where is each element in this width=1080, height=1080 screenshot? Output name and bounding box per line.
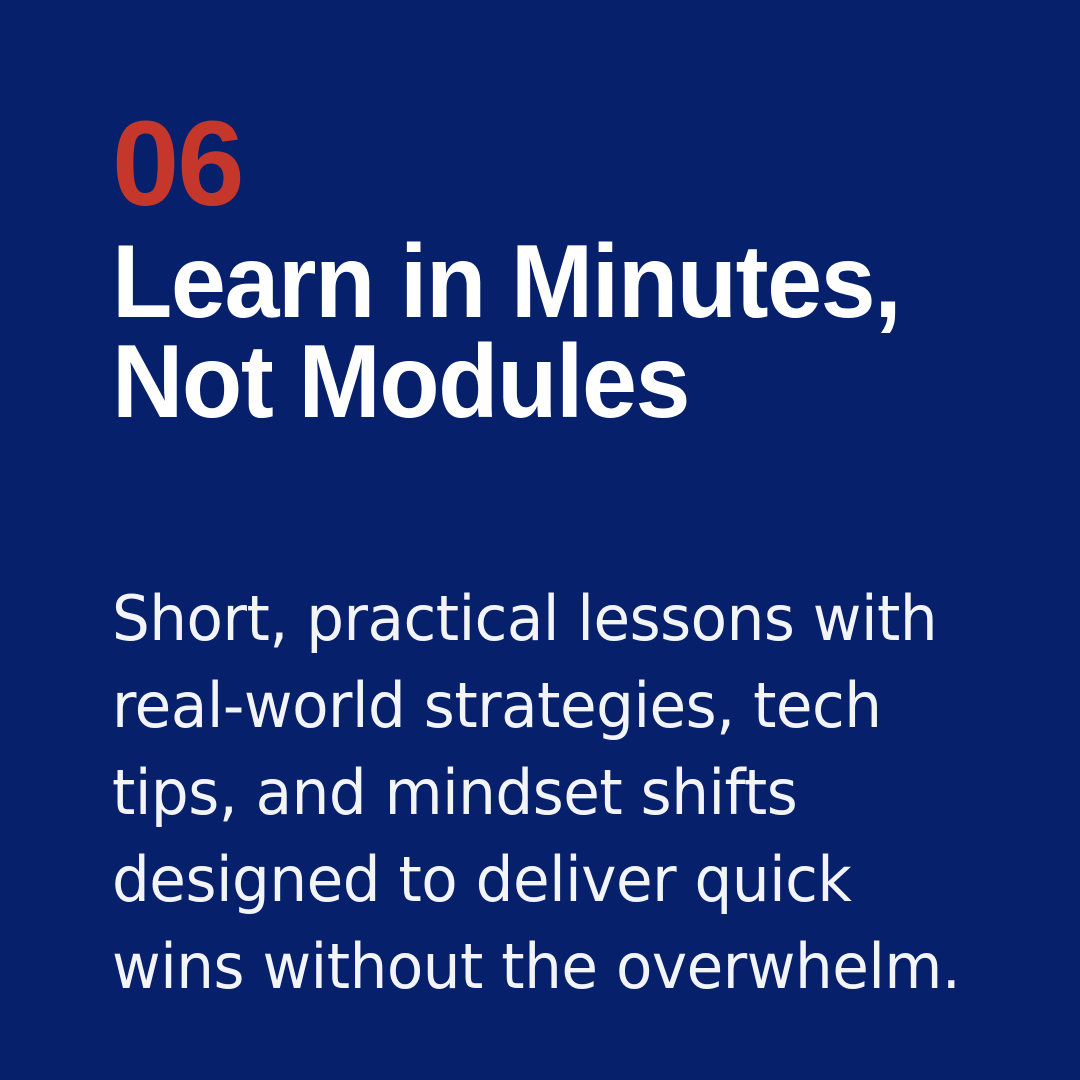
body-paragraph: Short, practical lessons with real-world…: [112, 575, 976, 1010]
page-title: Learn in Minutes, Not Modules: [112, 232, 967, 432]
slide-canvas: 06 Learn in Minutes, Not Modules Short, …: [0, 0, 1080, 1080]
step-number: 06: [112, 104, 243, 222]
